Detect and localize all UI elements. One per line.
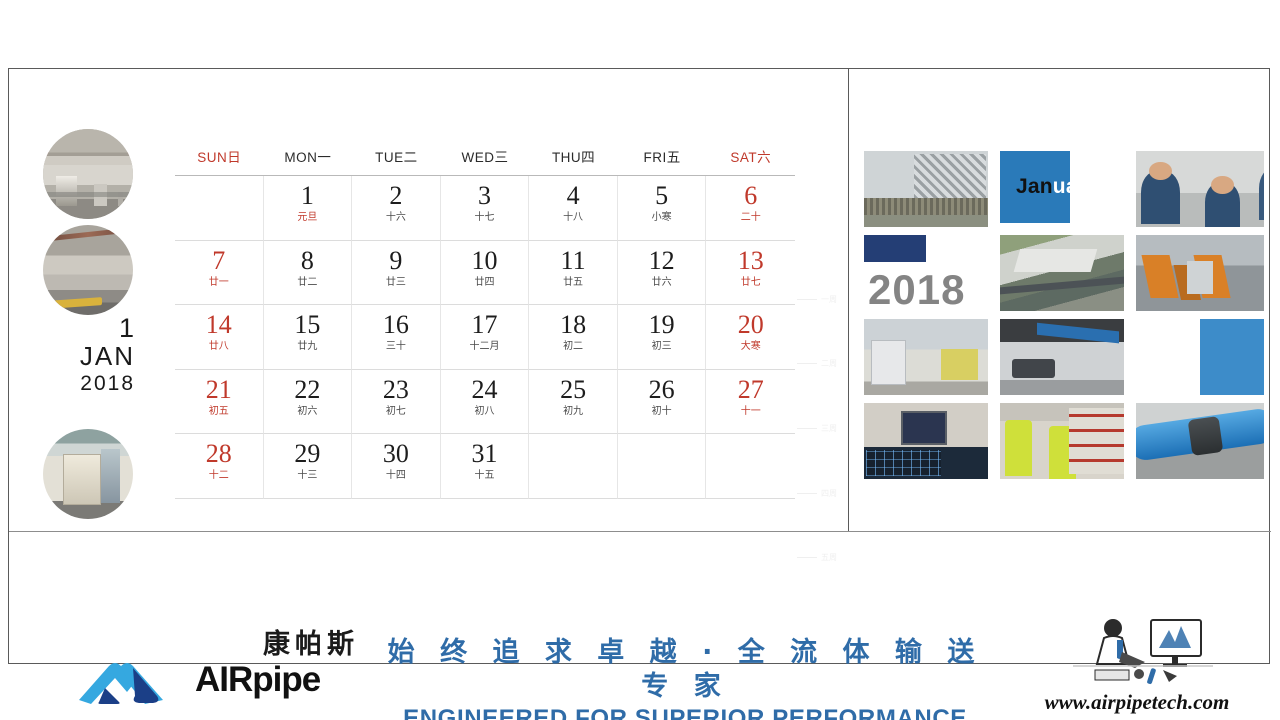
brand-wordmark: AIRpipe [195, 658, 320, 702]
factory-assembly-hall-image [43, 129, 133, 219]
sidebar-photo-compressor-room [43, 429, 133, 519]
compressor-room-image [43, 429, 133, 519]
slogan-block: 始 终 追 求 卓 越 · 全 流 体 输 送 专 家 ENGINEERED F… [385, 636, 985, 720]
day-number: 16 [352, 310, 440, 340]
calendar-cell-day-26[interactable]: 26初十 [618, 370, 707, 435]
calendar-cell-day-19[interactable]: 19初三 [618, 305, 707, 370]
plant-room-piping-image [864, 319, 988, 395]
collage-tile-blue-pipe-coupling [1136, 403, 1264, 479]
lunar-date: 大寒 [706, 340, 795, 354]
horizontal-divider [9, 531, 1271, 532]
month-label-block: 1 JAN 2018 [31, 315, 135, 396]
calendar-cell-day-29[interactable]: 29十三 [264, 434, 353, 499]
week-marker-rule [797, 493, 817, 494]
collage-tile-robotic-assembly-line [1136, 235, 1264, 311]
calendar-header-2: TUE二 [352, 146, 441, 175]
day-number: 20 [706, 310, 795, 340]
page-frame: 1 JAN 2018 SUN日MON一TUE二WED三THU四FRI五SAT六 … [8, 68, 1270, 664]
week-marker-3: 三周 [797, 423, 841, 434]
calendar-cell-day-16[interactable]: 16三十 [352, 305, 441, 370]
day-number: 11 [529, 246, 617, 276]
headquarters-image [864, 151, 988, 227]
day-number: 30 [352, 439, 440, 469]
robotic-assembly-line-image [1136, 235, 1264, 311]
lunar-date: 十二 [175, 469, 263, 483]
accent-square-blue-secondary [1200, 319, 1264, 395]
day-number: 10 [441, 246, 529, 276]
day-number: 17 [441, 310, 529, 340]
day-number: 29 [264, 439, 352, 469]
calendar-cell-day-12[interactable]: 12廿六 [618, 241, 707, 306]
dark-equipment-room-image [1000, 319, 1124, 395]
overhead-crane-line-image [43, 225, 133, 315]
calendar-grid: SUN日MON一TUE二WED三THU四FRI五SAT六 1元旦2十六3十七4十… [175, 146, 795, 499]
week-marker-rule [797, 557, 817, 558]
lunar-date: 初八 [441, 405, 529, 419]
calendar-header-1: MON一 [264, 146, 353, 175]
week-marker-2: 二周 [797, 358, 841, 369]
calendar-cell-day-7[interactable]: 7廿一 [175, 241, 264, 306]
calendar-cell-day-31[interactable]: 31十五 [441, 434, 530, 499]
week-marker-label: 四周 [821, 488, 837, 499]
website-url[interactable]: www.airpipetech.com [1017, 690, 1257, 715]
day-number: 28 [175, 439, 263, 469]
collage-tile-plant-room-piping [864, 319, 988, 395]
collage-tile-aerial-industrial-park [1000, 235, 1124, 311]
collage-tile-company-headquarters-group-photo [864, 151, 988, 227]
collage-month-title-dark: Jan [1016, 175, 1053, 198]
lunar-date: 十三 [264, 469, 352, 483]
sidebar-photo-factory-assembly-hall [43, 129, 133, 219]
lunar-date: 十四 [352, 469, 440, 483]
calendar-cell-empty [529, 434, 618, 499]
lunar-date: 初十 [618, 405, 706, 419]
lunar-date: 廿二 [264, 276, 352, 290]
collage-tile-warehouse-staff-inventory [1000, 403, 1124, 479]
slogan-english: ENGINEERED FOR SUPERIOR PERFORMANCE [385, 704, 985, 720]
collage-month-title: January [1016, 175, 1098, 199]
lunar-date: 廿一 [175, 276, 263, 290]
week-marker-label: 五周 [821, 552, 837, 563]
calendar-cell-day-15[interactable]: 15廿九 [264, 305, 353, 370]
lunar-date: 小寒 [618, 211, 706, 225]
calendar-cell-day-21[interactable]: 21初五 [175, 370, 264, 435]
calendar-cell-day-30[interactable]: 30十四 [352, 434, 441, 499]
blue-pipe-coupling-image [1136, 403, 1264, 479]
aerial-industrial-park-image [1000, 235, 1124, 311]
day-number: 8 [264, 246, 352, 276]
sidebar-photo-strip: 1 JAN 2018 [31, 129, 161, 529]
calendar-cell-day-5[interactable]: 5小寒 [618, 176, 707, 241]
lunar-date: 十一 [706, 405, 795, 419]
month-abbreviation: JAN [31, 342, 135, 371]
lunar-date: 初二 [529, 340, 617, 354]
day-number: 22 [264, 375, 352, 405]
day-number: 9 [352, 246, 440, 276]
calendar-cell-day-18[interactable]: 18初二 [529, 305, 618, 370]
day-number: 7 [175, 246, 263, 276]
collage-tile-team-selfie-statue-of-liberty [1136, 151, 1264, 227]
warehouse-staff-inventory-image [1000, 403, 1124, 479]
team-selfie-image [1136, 151, 1264, 227]
calendar-cell-day-23[interactable]: 23初七 [352, 370, 441, 435]
slogan-chinese: 始 终 追 求 卓 越 · 全 流 体 输 送 专 家 [385, 636, 985, 704]
day-number: 31 [441, 439, 529, 469]
lunar-date: 十八 [529, 211, 617, 225]
calendar-cell-day-1[interactable]: 1元旦 [264, 176, 353, 241]
week-marker-label: 三周 [821, 423, 837, 434]
calendar-header-6: SAT六 [706, 146, 795, 175]
calendar-cell-day-14[interactable]: 14廿八 [175, 305, 264, 370]
day-number: 26 [618, 375, 706, 405]
collage-year: 2018 [868, 269, 965, 311]
day-number: 19 [618, 310, 706, 340]
accent-rect-navy [864, 235, 926, 262]
brand-block: 康帕斯 AIRpipe [67, 622, 367, 714]
lunar-date: 初三 [618, 340, 706, 354]
lunar-date: 十七 [441, 211, 529, 225]
brand-chinese-name: 康帕斯 [263, 622, 359, 661]
lunar-date: 二十 [706, 211, 795, 225]
calendar-cell-day-13[interactable]: 13廿七 [706, 241, 795, 306]
month-number: 1 [31, 315, 135, 342]
week-marker-label: 一周 [821, 294, 837, 305]
day-number: 24 [441, 375, 529, 405]
day-number: 13 [706, 246, 795, 276]
day-number: 4 [529, 181, 617, 211]
calendar-cell-day-17[interactable]: 17十二月 [441, 305, 530, 370]
calendar-cell-day-10[interactable]: 10廿四 [441, 241, 530, 306]
lunar-date: 初九 [529, 405, 617, 419]
lunar-date: 廿九 [264, 340, 352, 354]
sidebar-photo-overhead-crane-line [43, 225, 133, 315]
lunar-date: 廿三 [352, 276, 440, 290]
lunar-date: 初六 [264, 405, 352, 419]
calendar-cell-day-11[interactable]: 11廿五 [529, 241, 618, 306]
week-marker-label: 二周 [821, 358, 837, 369]
person-at-computer-icon [1073, 614, 1213, 686]
calendar-page: 1 JAN 2018 SUN日MON一TUE二WED三THU四FRI五SAT六 … [0, 0, 1280, 720]
week-marker-1: 一周 [797, 294, 841, 305]
calendar-header-5: FRI五 [618, 146, 707, 175]
day-number: 3 [441, 181, 529, 211]
lunar-date: 元旦 [264, 211, 352, 225]
lunar-date: 廿七 [706, 276, 795, 290]
calendar-cell-day-24[interactable]: 24初八 [441, 370, 530, 435]
collage-month-title-light: uary [1053, 175, 1098, 198]
calendar-cell-day-9[interactable]: 9廿三 [352, 241, 441, 306]
week-marker-rule [797, 428, 817, 429]
day-number: 14 [175, 310, 263, 340]
day-number: 23 [352, 375, 440, 405]
day-number: 18 [529, 310, 617, 340]
day-number: 25 [529, 375, 617, 405]
month-year: 2018 [31, 371, 135, 396]
calendar-cell-day-2[interactable]: 2十六 [352, 176, 441, 241]
calendar-cell-day-20[interactable]: 20大寒 [706, 305, 795, 370]
day-number: 5 [618, 181, 706, 211]
lunar-date: 十六 [352, 211, 440, 225]
lunar-date: 初七 [352, 405, 440, 419]
day-number: 6 [706, 181, 795, 211]
day-number: 12 [618, 246, 706, 276]
lunar-date: 廿五 [529, 276, 617, 290]
calendar-body: 1元旦2十六3十七4十八5小寒6二十7廿一8廿二9廿三10廿四11廿五12廿六1… [175, 176, 795, 499]
lunar-date: 廿六 [618, 276, 706, 290]
footer-bar: 康帕斯 AIRpipe 始 终 追 求 卓 越 · 全 流 体 输 送 专 家 … [17, 600, 1279, 720]
vertical-divider [848, 69, 849, 531]
week-marker-4: 四周 [797, 488, 841, 499]
lunar-date: 三十 [352, 340, 440, 354]
calendar-cell-day-27[interactable]: 27十一 [706, 370, 795, 435]
collage-tile-dark-equipment-room [1000, 319, 1124, 395]
calendar-cell-empty [618, 434, 707, 499]
day-number: 21 [175, 375, 263, 405]
day-number: 27 [706, 375, 795, 405]
day-number: 15 [264, 310, 352, 340]
calendar-cell-day-25[interactable]: 25初九 [529, 370, 618, 435]
calendar-cell-day-28[interactable]: 28十二 [175, 434, 264, 499]
calendar-header-0: SUN日 [175, 146, 264, 175]
lunar-date: 初五 [175, 405, 263, 419]
airpipe-logo-icon [75, 658, 187, 704]
calendar-cell-day-6[interactable]: 6二十 [706, 176, 795, 241]
lunar-date: 十二月 [441, 340, 529, 354]
calendar-cell-day-8[interactable]: 8廿二 [264, 241, 353, 306]
collage-tile-engineer-cad-workstation [864, 403, 988, 479]
calendar-cell-day-3[interactable]: 3十七 [441, 176, 530, 241]
calendar-header-row: SUN日MON一TUE二WED三THU四FRI五SAT六 [175, 146, 795, 176]
week-marker-rule [797, 299, 817, 300]
week-marker-column: 一周二周三周四周五周 [797, 146, 841, 566]
lunar-date: 十五 [441, 469, 529, 483]
calendar-cell-day-22[interactable]: 22初六 [264, 370, 353, 435]
photo-collage: January 2018 [864, 151, 1264, 516]
week-marker-rule [797, 363, 817, 364]
engineer-cad-workstation-image [864, 403, 988, 479]
website-block: www.airpipetech.com [1017, 614, 1257, 720]
week-marker-5: 五周 [797, 552, 841, 563]
calendar-cell-empty [706, 434, 795, 499]
lunar-date: 廿四 [441, 276, 529, 290]
lunar-date: 廿八 [175, 340, 263, 354]
calendar-header-3: WED三 [441, 146, 530, 175]
calendar-cell-empty [175, 176, 264, 241]
day-number: 2 [352, 181, 440, 211]
day-number: 1 [264, 181, 352, 211]
calendar-header-4: THU四 [529, 146, 618, 175]
calendar-cell-day-4[interactable]: 4十八 [529, 176, 618, 241]
